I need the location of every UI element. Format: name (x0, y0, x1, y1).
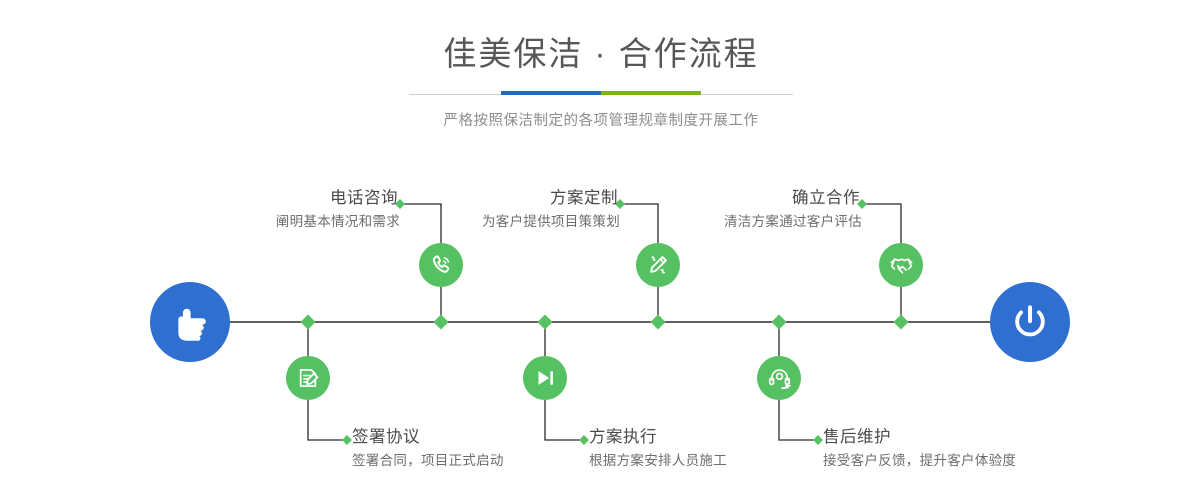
step-icon-3[interactable] (636, 243, 680, 287)
axis-diamond-3 (538, 315, 553, 330)
step-title-5: 确立合作 (642, 187, 862, 209)
connector-step5-label-line (862, 204, 901, 243)
step-desc-6: 接受客户反馈，提升客户体验度 (823, 451, 1143, 471)
axis-diamond-2 (434, 315, 449, 330)
step-desc-1: 阐明基本情况和需求 (180, 212, 400, 232)
step-icon-5[interactable] (879, 243, 923, 287)
flow-end-node[interactable] (990, 282, 1070, 362)
step-title-6: 售后维护 (823, 426, 1143, 448)
step-label-3: 方案定制 为客户提供项目策策划 (400, 187, 620, 232)
flow-start-node[interactable] (150, 282, 230, 362)
label-diamond-step2 (342, 435, 352, 445)
cooperation-flow-infographic: 佳美保洁 · 合作流程 严格按照保洁制定的各项管理规章制度开展工作 (0, 0, 1202, 502)
step-icon-2[interactable] (286, 356, 330, 400)
phone-call-icon (428, 252, 454, 278)
step-label-6: 售后维护 接受客户反馈，提升客户体验度 (823, 426, 1143, 471)
axis-diamond-5 (772, 315, 787, 330)
power-icon (1008, 300, 1052, 344)
step-title-3: 方案定制 (400, 187, 620, 209)
step-label-5: 确立合作 清洁方案通过客户评估 (642, 187, 862, 232)
step-title-1: 电话咨询 (180, 187, 400, 209)
step-icon-1[interactable] (419, 243, 463, 287)
support-headset-add-icon (766, 365, 793, 392)
play-next-icon (532, 365, 558, 391)
step-desc-5: 清洁方案通过客户评估 (642, 212, 862, 232)
step-icon-4[interactable] (523, 356, 567, 400)
axis-diamond-1 (301, 315, 316, 330)
document-sign-icon (295, 365, 321, 391)
axis-diamond-4 (651, 315, 666, 330)
pencil-edit-icon (645, 252, 671, 278)
connector-step2-label-line (308, 400, 347, 440)
step-desc-3: 为客户提供项目策策划 (400, 212, 620, 232)
handshake-icon (888, 252, 915, 279)
axis-diamond-6 (894, 315, 909, 330)
pointing-hand-icon (168, 300, 212, 344)
flow-diagram: 电话咨询 阐明基本情况和需求 方案定制 为客户提供项目策策划 (0, 0, 1202, 502)
step-label-1: 电话咨询 阐明基本情况和需求 (180, 187, 400, 232)
step-icon-6[interactable] (757, 356, 801, 400)
